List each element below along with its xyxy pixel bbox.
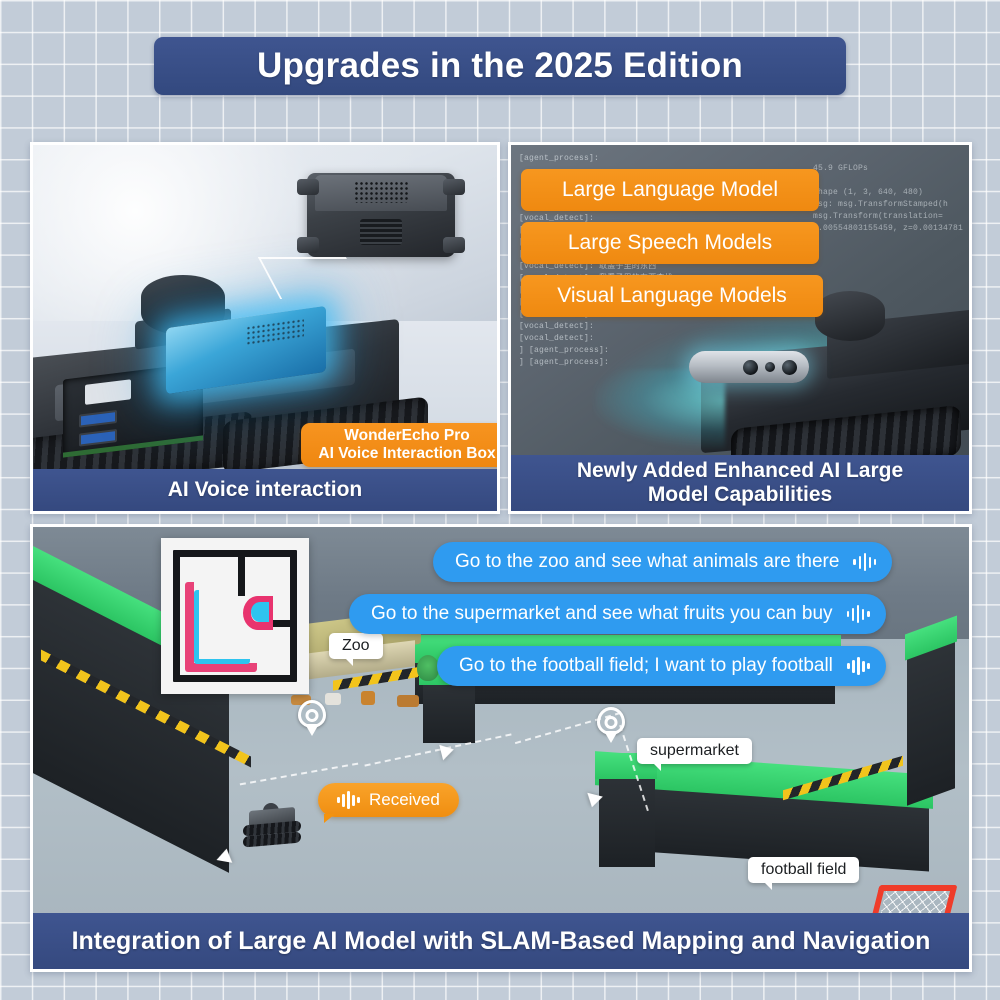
usb-port-lower — [79, 429, 117, 447]
arena-wall-right-corner-dark — [599, 771, 655, 867]
board-chip — [85, 379, 131, 405]
product-mount-tab — [443, 179, 465, 195]
speech-bubble-text: Go to the football field; I want to play… — [459, 655, 833, 677]
status-badge-received: Received — [318, 783, 459, 817]
product-mount-tab — [297, 237, 319, 253]
place-tag-zoo: Zoo — [329, 633, 383, 659]
speech-bubble-text: Go to the zoo and see what animals are t… — [455, 551, 839, 573]
animal-figure — [361, 691, 375, 705]
ai-voice-photo: WonderEcho Pro AI Voice Interaction Box — [33, 145, 497, 511]
camera-lens-icon — [782, 360, 797, 375]
capability-pill-vlm: Visual Language Models — [521, 275, 823, 317]
caption-text-line2: Model Capabilities — [577, 483, 903, 507]
speech-bubble-supermarket: Go to the supermarket and see what fruit… — [349, 594, 886, 634]
pill-label: Large Language Model — [562, 178, 778, 202]
place-tag-supermarket: supermarket — [637, 738, 752, 764]
panel-ai-large-models: [agent_process]: [vocal_detect]: [vocal_… — [508, 142, 972, 514]
caption-slam-navigation: Integration of Large AI Model with SLAM-… — [33, 913, 969, 969]
robot-with-depth-camera — [681, 237, 969, 467]
capability-pill-llm: Large Language Model — [521, 169, 819, 211]
status-badge-label: Received — [369, 790, 440, 810]
product-label-line2: AI Voice Interaction Box — [318, 445, 495, 463]
microphone-mesh-icon — [354, 181, 408, 203]
audio-waveform-icon — [853, 553, 876, 571]
caption-text-line1: Newly Added Enhanced AI Large — [577, 459, 903, 483]
product-mount-tab — [443, 237, 465, 253]
callout-leader-line — [258, 257, 368, 299]
lidar-sensor — [815, 291, 885, 341]
wonderecho-product-shot — [307, 173, 455, 257]
speech-bubble-text: Go to the supermarket and see what fruit… — [371, 603, 833, 625]
product-label-line1: WonderEcho Pro — [344, 427, 469, 445]
audio-waveform-icon — [847, 657, 870, 675]
speech-bubble-football: Go to the football field; I want to play… — [437, 646, 886, 686]
slam-map-inset — [161, 538, 309, 694]
speech-bubble-zoo: Go to the zoo and see what animals are t… — [433, 542, 892, 582]
audio-waveform-icon — [847, 605, 870, 623]
pill-label: Large Speech Models — [568, 231, 772, 255]
navigation-arena-photo: Zoo supermarket football field Received — [33, 527, 969, 969]
mobile-robot — [241, 803, 303, 849]
place-tag-football-field: football field — [748, 857, 859, 883]
pill-label: Visual Language Models — [557, 284, 787, 308]
page-title-banner: Upgrades in the 2025 Edition — [154, 37, 846, 95]
slam-goal-marker — [251, 602, 269, 622]
slam-planned-path — [194, 590, 250, 664]
location-pin-icon-supermarket — [597, 707, 625, 743]
caption-ai-voice: AI Voice interaction — [33, 469, 497, 511]
speaker-grille-icon — [246, 318, 304, 346]
panel-slam-navigation: Zoo supermarket football field Received — [30, 524, 972, 972]
product-mount-tab — [297, 179, 319, 195]
animal-figure — [325, 693, 341, 705]
usb-port-upper — [79, 410, 117, 428]
tree-icon — [417, 655, 439, 681]
camera-lens-icon — [765, 362, 775, 372]
caption-ai-models: Newly Added Enhanced AI Large Model Capa… — [511, 455, 969, 511]
caption-text: AI Voice interaction — [168, 478, 363, 502]
camera-lens-icon — [743, 360, 758, 375]
animal-figure — [397, 695, 419, 707]
page-title: Upgrades in the 2025 Edition — [257, 46, 743, 86]
nav-direction-arrow — [216, 847, 234, 863]
capability-pill-speech: Large Speech Models — [521, 222, 819, 264]
location-pin-icon-zoo — [298, 700, 326, 736]
arena-wall-far-right-dark — [907, 638, 955, 805]
wonderecho-product-label: WonderEcho Pro AI Voice Interaction Box — [301, 423, 497, 467]
panel-ai-voice-interaction: WonderEcho Pro AI Voice Interaction Box … — [30, 142, 500, 514]
caption-text: Integration of Large AI Model with SLAM-… — [72, 927, 931, 955]
audio-waveform-icon — [337, 791, 360, 809]
depth-camera — [689, 351, 809, 383]
console-log-right: 45.9 GFLOPs shape (1, 3, 640, 480) msg: … — [813, 163, 963, 235]
product-vent — [360, 219, 402, 245]
